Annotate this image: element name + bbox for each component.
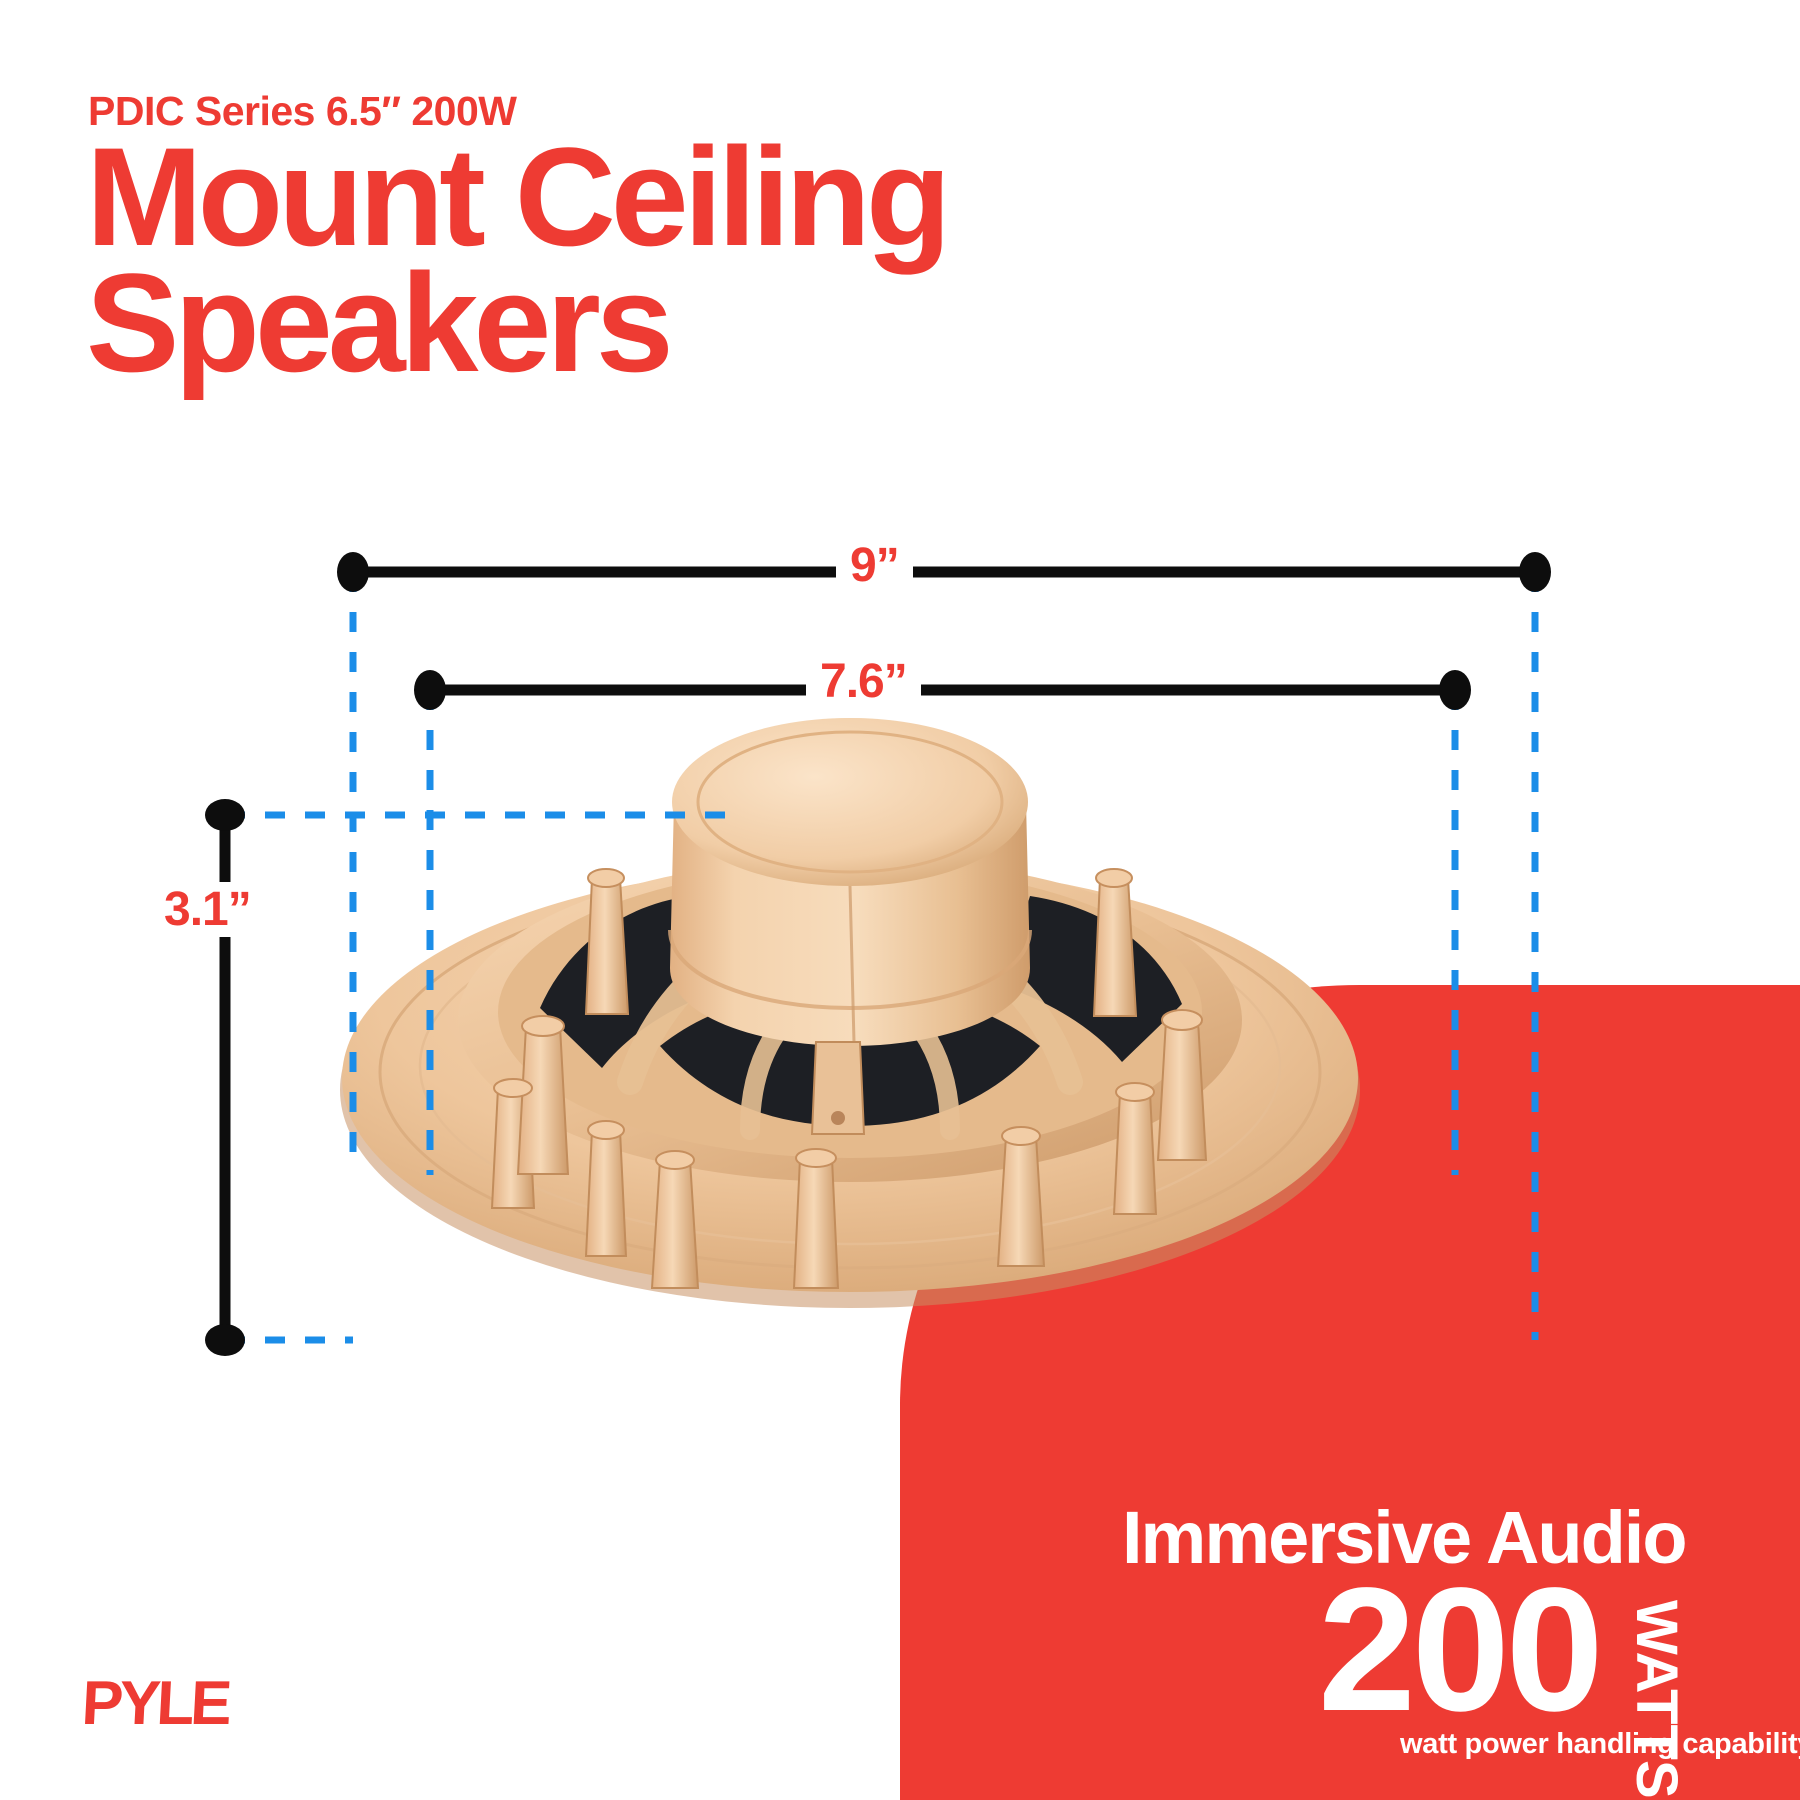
dimension-line-outer-width: [337, 552, 1551, 592]
dimension-label-cutout-width: 7.6”: [806, 654, 921, 709]
infographic-canvas: PDIC Series 6.5″ 200W Mount Ceiling Spea…: [0, 0, 1800, 1800]
dimension-label-outer-width: 9”: [836, 538, 913, 593]
product-image-ceiling-speaker: [330, 690, 1370, 1310]
badge-subtext: watt power handling capability: [1400, 1728, 1800, 1761]
dimension-label-depth: 3.1”: [150, 882, 265, 937]
badge-watt-unit: WATTS: [1623, 1600, 1690, 1799]
page-title: Mount Ceiling Speakers: [86, 134, 946, 386]
pyle-logo: PYLE: [80, 1668, 230, 1739]
speaker-magnet-cover: [670, 718, 1030, 1046]
badge-watt-number: 200: [1318, 1562, 1600, 1738]
speaker-terminal-tab: [812, 1042, 864, 1134]
